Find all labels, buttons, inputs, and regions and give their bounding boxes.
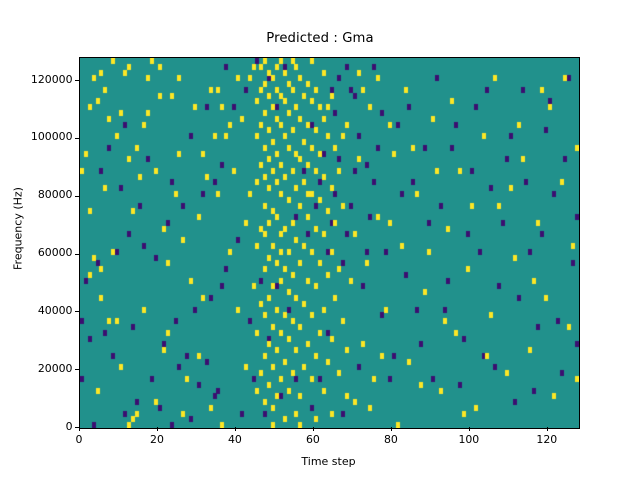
y-tick-label: 40000	[38, 304, 73, 317]
x-tick-mark	[469, 427, 470, 431]
y-axis-label: Frequency (Hz)	[12, 0, 25, 469]
y-tick-mark	[75, 80, 79, 81]
x-tick-label: 100	[458, 433, 479, 446]
heatmap-plot-area	[79, 57, 580, 429]
y-tick-mark	[75, 311, 79, 312]
y-tick-label: 100000	[31, 130, 73, 143]
x-tick-mark	[157, 427, 158, 431]
heatmap-image	[80, 58, 579, 428]
x-tick-mark	[79, 427, 80, 431]
x-tick-label: 120	[536, 433, 557, 446]
x-tick-mark	[235, 427, 236, 431]
x-tick-label: 0	[76, 433, 83, 446]
x-tick-label: 20	[150, 433, 164, 446]
x-tick-mark	[391, 427, 392, 431]
x-tick-label: 80	[384, 433, 398, 446]
y-tick-mark	[75, 138, 79, 139]
y-tick-label: 20000	[38, 362, 73, 375]
page-title: Predicted : Gma	[0, 31, 640, 46]
x-axis-label: Time step	[79, 455, 578, 468]
y-tick-mark	[75, 254, 79, 255]
y-tick-label: 80000	[38, 188, 73, 201]
x-tick-mark	[547, 427, 548, 431]
matplotlib-figure: Predicted : Gma Frequency (Hz) Time step…	[0, 0, 640, 480]
y-tick-mark	[75, 369, 79, 370]
y-tick-mark	[75, 196, 79, 197]
y-tick-label: 0	[66, 420, 73, 433]
y-tick-label: 60000	[38, 246, 73, 259]
x-tick-mark	[313, 427, 314, 431]
x-tick-label: 60	[306, 433, 320, 446]
y-tick-label: 120000	[31, 73, 73, 86]
x-tick-label: 40	[228, 433, 242, 446]
